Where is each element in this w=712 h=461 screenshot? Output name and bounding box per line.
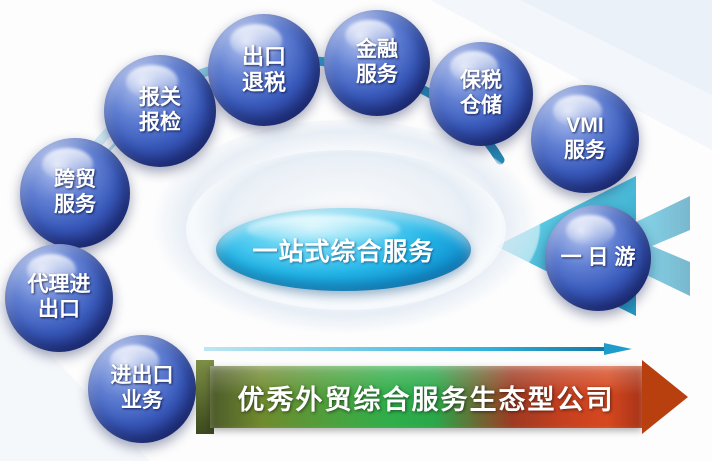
node-vmi-line-1: VMI bbox=[566, 114, 603, 139]
node-yiriyou-line-1: 一 日 游 bbox=[561, 246, 636, 271]
node-baoguan[interactable]: 报关 报检 bbox=[104, 55, 216, 167]
node-baoshui-line-2: 仓储 bbox=[460, 94, 502, 119]
node-baoshui-line-1: 保税 bbox=[460, 69, 502, 94]
node-kuamao-line-2: 服务 bbox=[54, 193, 96, 218]
node-vmi-line-2: 服务 bbox=[564, 139, 606, 164]
node-dailijinchukou[interactable]: 代理进 出口 bbox=[5, 244, 113, 352]
banner-arrow-line bbox=[204, 342, 634, 356]
node-baoguan-line-2: 报检 bbox=[139, 111, 181, 136]
node-vmi[interactable]: VMI 服务 bbox=[531, 85, 639, 193]
node-chukou-line-2: 退税 bbox=[242, 70, 286, 96]
node-jinrong[interactable]: 金融 服务 bbox=[324, 10, 430, 116]
banner-arrow-tip bbox=[642, 360, 688, 434]
node-baoshui[interactable]: 保税 仓储 bbox=[429, 42, 533, 146]
center-node-label: 一站式综合服务 bbox=[252, 232, 434, 268]
node-baoguan-line-1: 报关 bbox=[139, 86, 181, 111]
node-kuamao-line-1: 跨贸 bbox=[54, 168, 96, 193]
node-kuamao[interactable]: 跨贸 服务 bbox=[20, 138, 130, 248]
node-dailijinchukou-line-2: 出口 bbox=[38, 298, 80, 323]
center-node: 一站式综合服务 bbox=[216, 208, 471, 291]
node-jinrong-line-2: 服务 bbox=[356, 63, 398, 88]
bottom-banner: 优秀外贸综合服务生态型公司 bbox=[196, 352, 696, 444]
diagram-canvas: 一站式综合服务 跨贸 服务 报关 报检 出口 退税 金融 服务 保税 仓储 VM… bbox=[0, 0, 712, 461]
node-chukou[interactable]: 出口 退税 bbox=[208, 14, 320, 126]
node-jinrong-line-1: 金融 bbox=[356, 38, 398, 63]
node-dailijinchukou-line-1: 代理进 bbox=[28, 273, 91, 298]
banner-text: 优秀外贸综合服务生态型公司 bbox=[238, 378, 615, 417]
node-jinchukouyewu-line-2: 业务 bbox=[121, 389, 163, 414]
banner-body: 优秀外贸综合服务生态型公司 bbox=[210, 366, 642, 428]
node-jinchukouyewu-line-1: 进出口 bbox=[111, 364, 174, 389]
node-jinchukouyewu[interactable]: 进出口 业务 bbox=[88, 335, 196, 443]
node-chukou-line-1: 出口 bbox=[242, 44, 286, 70]
node-yiriyou[interactable]: 一 日 游 bbox=[545, 205, 651, 311]
